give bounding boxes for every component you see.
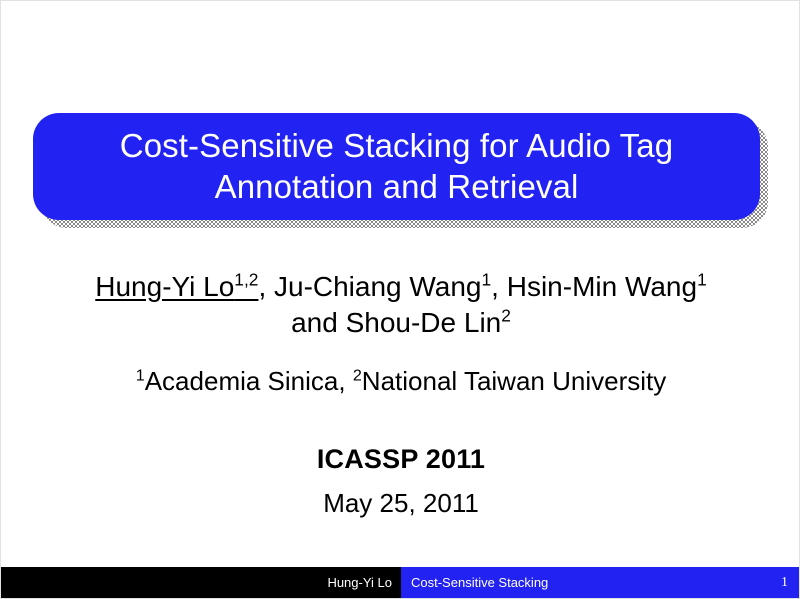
author-2-affiliation-marker: 1 (482, 270, 492, 290)
author-4-affiliation-marker: 2 (501, 306, 511, 326)
conference-name: ICASSP 2011 (1, 444, 800, 475)
presenting-author: Hung-Yi Lo1,2 (95, 271, 258, 302)
footer-deck-section: Cost-Sensitive Stacking 1 (401, 567, 800, 598)
affiliation-line: 1Academia Sinica, 2National Taiwan Unive… (1, 365, 800, 398)
footer-deck-title: Cost-Sensitive Stacking (411, 576, 548, 589)
presentation-slide: Cost-Sensitive Stacking for Audio Tag An… (0, 0, 800, 599)
slide-title: Cost-Sensitive Stacking for Audio Tag An… (102, 126, 691, 207)
slide-footer: Hung-Yi Lo Cost-Sensitive Stacking 1 (1, 567, 800, 598)
author-2-name: , Ju-Chiang Wang (258, 271, 481, 302)
author-list: Hung-Yi Lo1,2, Ju-Chiang Wang1, Hsin-Min… (1, 269, 800, 342)
footer-presenter-section: Hung-Yi Lo (1, 567, 401, 598)
presenting-author-name: Hung-Yi Lo (95, 271, 234, 302)
author-line-1: Hung-Yi Lo1,2, Ju-Chiang Wang1, Hsin-Min… (1, 269, 800, 305)
affiliation-1-name: Academia Sinica, (145, 366, 353, 396)
presentation-date: May 25, 2011 (1, 488, 800, 519)
affiliation-2-marker: 2 (353, 366, 362, 384)
author-4-name: and Shou-De Lin (291, 307, 501, 338)
author-line-2: and Shou-De Lin2 (1, 305, 800, 341)
title-banner-box: Cost-Sensitive Stacking for Audio Tag An… (33, 113, 760, 220)
affiliation-2-name: National Taiwan University (362, 366, 666, 396)
title-banner: Cost-Sensitive Stacking for Audio Tag An… (33, 113, 760, 220)
author-3-name: , Hsin-Min Wang (491, 271, 697, 302)
affiliation-1-marker: 1 (136, 366, 145, 384)
footer-presenter-name: Hung-Yi Lo (327, 576, 392, 589)
footer-page-number: 1 (781, 576, 788, 590)
presenting-author-affiliation-marker: 1,2 (234, 270, 258, 290)
author-3-affiliation-marker: 1 (697, 270, 707, 290)
